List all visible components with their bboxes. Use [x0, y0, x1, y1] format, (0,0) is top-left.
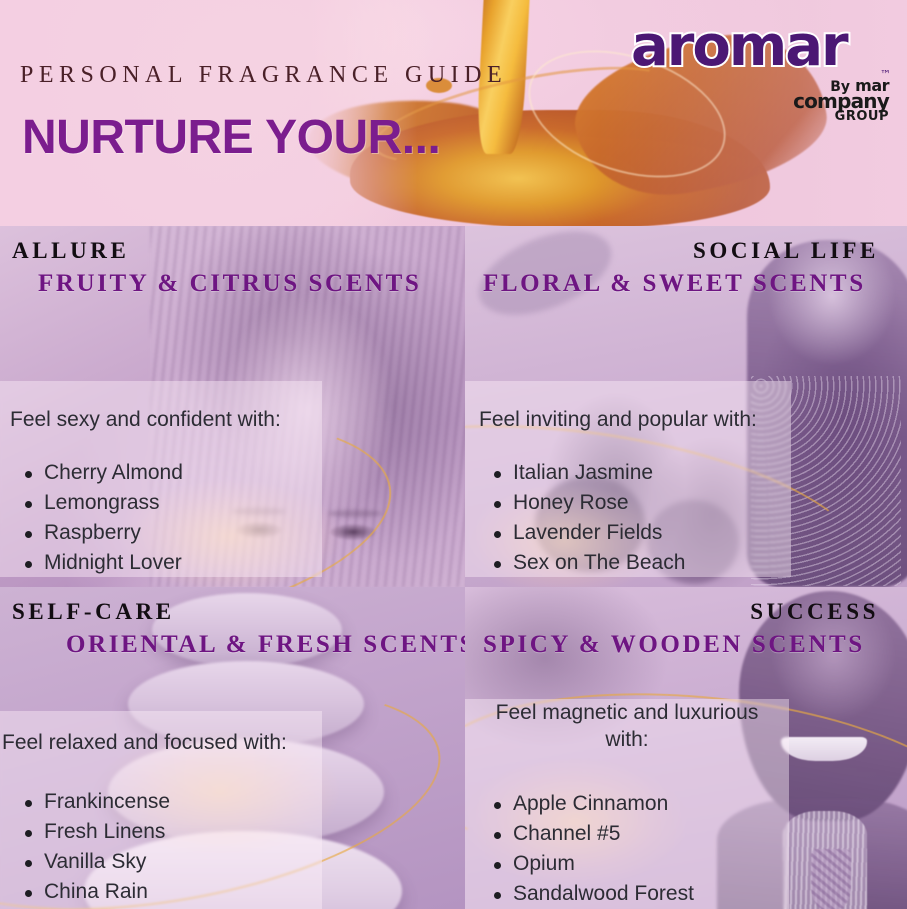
category-title-self-care: SELF-CARE	[12, 599, 175, 625]
list-item: Sandalwood Forest	[513, 879, 694, 909]
list-item: Sex on The Beach	[513, 548, 685, 578]
list-item: Opium	[513, 849, 694, 879]
quadrant-social-life: SOCIAL LIFE FLORAL & SWEET SCENTS Feel i…	[465, 226, 907, 587]
list-item: Raspberry	[44, 518, 183, 548]
list-item: Honey Rose	[513, 488, 685, 518]
list-item: Lemongrass	[44, 488, 183, 518]
lead-text-allure: Feel sexy and confident with:	[10, 408, 281, 432]
scent-list-success: Apple Cinnamon Channel #5 Opium Sandalwo…	[479, 789, 694, 909]
list-item: Midnight Lover	[44, 548, 183, 578]
scent-family-allure: FRUITY & CITRUS SCENTS	[38, 270, 421, 298]
list-item: Vanilla Sky	[44, 847, 170, 877]
scent-list-social-life: Italian Jasmine Honey Rose Lavender Fiel…	[479, 458, 685, 578]
page-title: NURTURE YOUR...	[22, 110, 440, 165]
list-item: China Rain	[44, 877, 170, 907]
list-item: Cherry Almond	[44, 458, 183, 488]
eye-right	[330, 524, 376, 540]
quadrant-success: SUCCESS SPICY & WOODEN SCENTS Feel magne…	[465, 587, 907, 909]
man-tie	[811, 849, 851, 909]
list-item: Lavender Fields	[513, 518, 685, 548]
list-item: Fresh Linens	[44, 817, 170, 847]
poster-header: PERSONAL FRAGRANCE GUIDE NURTURE YOUR...…	[0, 0, 907, 226]
scent-list-allure: Cherry Almond Lemongrass Raspberry Midni…	[10, 458, 183, 578]
quadrant-allure: ALLURE FRUITY & CITRUS SCENTS Feel sexy …	[0, 226, 465, 587]
scent-list-self-care: Frankincense Fresh Linens Vanilla Sky Ch…	[10, 787, 170, 907]
fragrance-guide-poster: PERSONAL FRAGRANCE GUIDE NURTURE YOUR...…	[0, 0, 907, 909]
lead-text-social-life: Feel inviting and popular with:	[479, 408, 757, 432]
list-item: Apple Cinnamon	[513, 789, 694, 819]
scent-family-social-life: FLORAL & SWEET SCENTS	[483, 270, 866, 298]
quadrant-self-care: SELF-CARE ORIENTAL & FRESH SCENTS Feel r…	[0, 587, 465, 909]
list-item: Italian Jasmine	[513, 458, 685, 488]
logo-subtext: By mar company GROUP	[793, 78, 889, 123]
lead-text-success: Feel magnetic and luxurious with:	[485, 699, 769, 754]
scent-family-success: SPICY & WOODEN SCENTS	[483, 631, 865, 659]
logo-wordmark: aromar	[631, 16, 847, 78]
list-item: Channel #5	[513, 819, 694, 849]
list-item: Frankincense	[44, 787, 170, 817]
eyebrow-right	[328, 510, 382, 517]
scent-family-self-care: ORIENTAL & FRESH SCENTS	[66, 631, 465, 659]
aromar-logo: aromar ™ By mar company GROUP	[631, 16, 893, 116]
header-kicker: PERSONAL FRAGRANCE GUIDE	[20, 62, 507, 89]
category-title-success: SUCCESS	[750, 599, 879, 625]
category-title-social-life: SOCIAL LIFE	[693, 238, 879, 264]
lead-text-self-care: Feel relaxed and focused with:	[2, 731, 287, 755]
category-title-allure: ALLURE	[12, 238, 129, 264]
quadrant-grid: ALLURE FRUITY & CITRUS SCENTS Feel sexy …	[0, 226, 907, 909]
